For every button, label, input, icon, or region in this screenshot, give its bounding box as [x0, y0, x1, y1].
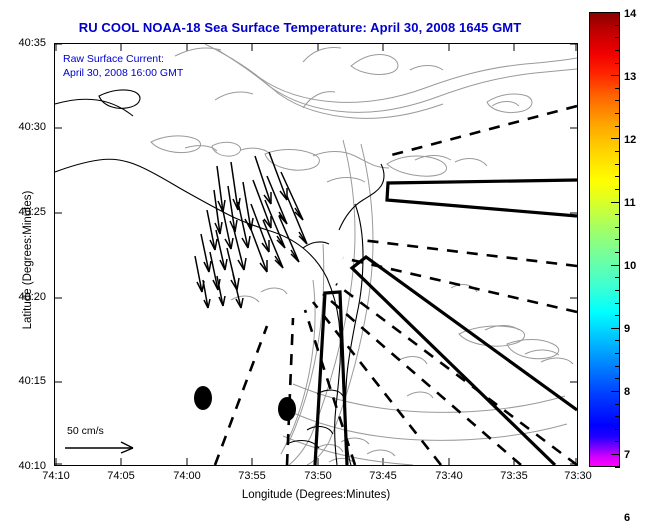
x-tick-7: 73:35 — [500, 470, 528, 482]
x-tick-5: 73:45 — [369, 470, 397, 482]
current-vector — [249, 224, 267, 272]
raw-surface-current-annotation: Raw Surface Current: April 30, 2008 16:0… — [63, 52, 183, 80]
radar-beam-wedges — [315, 180, 577, 465]
colorbar-tick-9: 9 — [624, 323, 630, 335]
radar-site-marker — [278, 397, 296, 421]
sst-contours — [151, 44, 577, 465]
surface-current-vectors — [195, 152, 307, 308]
x-tick-8: 73:30 — [564, 470, 592, 482]
current-vector — [227, 248, 239, 290]
colorbar-tick-8: 8 — [624, 386, 630, 398]
sst-map-figure: RU COOL NOAA-18 Sea Surface Temperature:… — [0, 0, 651, 519]
colorbar-ticks — [589, 12, 620, 467]
current-vector — [216, 230, 227, 270]
map-plot-area: Raw Surface Current: April 30, 2008 16:0… — [54, 43, 578, 466]
x-axis-title: Longitude (Degrees:Minutes) — [54, 489, 578, 501]
colorbar-tick-7: 7 — [624, 449, 630, 461]
y-axis-title: Latitude (Degrees:Minutes) — [22, 140, 34, 380]
x-tick-4: 73:50 — [304, 470, 332, 482]
current-vector — [253, 180, 271, 228]
x-tick-2: 74:00 — [173, 470, 201, 482]
current-vector — [207, 210, 217, 250]
radar-site-markers — [194, 386, 296, 421]
colorbar-tick-6: 6 — [624, 512, 630, 524]
vector-scale-label: 50 cm/s — [67, 425, 143, 437]
colorbar-tick-10: 10 — [624, 260, 636, 272]
vector-scale-legend: 50 cm/s — [63, 425, 143, 455]
colorbar-tick-11: 11 — [624, 197, 636, 209]
x-tick-0: 74:10 — [42, 470, 70, 482]
current-vector — [217, 166, 225, 212]
x-tick-6: 73:40 — [435, 470, 463, 482]
colorbar-tick-12: 12 — [624, 134, 636, 146]
current-vector — [195, 256, 204, 292]
current-vector — [287, 196, 307, 244]
annotation-line-2: April 30, 2008 16:00 GMT — [63, 66, 183, 80]
vector-scale-arrow-icon — [63, 439, 143, 455]
map-canvas — [55, 44, 577, 465]
current-vector — [233, 274, 243, 308]
coastline — [55, 90, 384, 465]
current-vector — [217, 276, 225, 306]
x-tick-1: 74:05 — [107, 470, 135, 482]
annotation-line-1: Raw Surface Current: — [63, 52, 183, 66]
x-tick-3: 73:55 — [238, 470, 266, 482]
radar-site-marker — [194, 386, 212, 410]
current-vector — [203, 280, 210, 308]
colorbar-tick-14: 14 — [624, 8, 636, 20]
colorbar-tick-13: 13 — [624, 71, 636, 83]
